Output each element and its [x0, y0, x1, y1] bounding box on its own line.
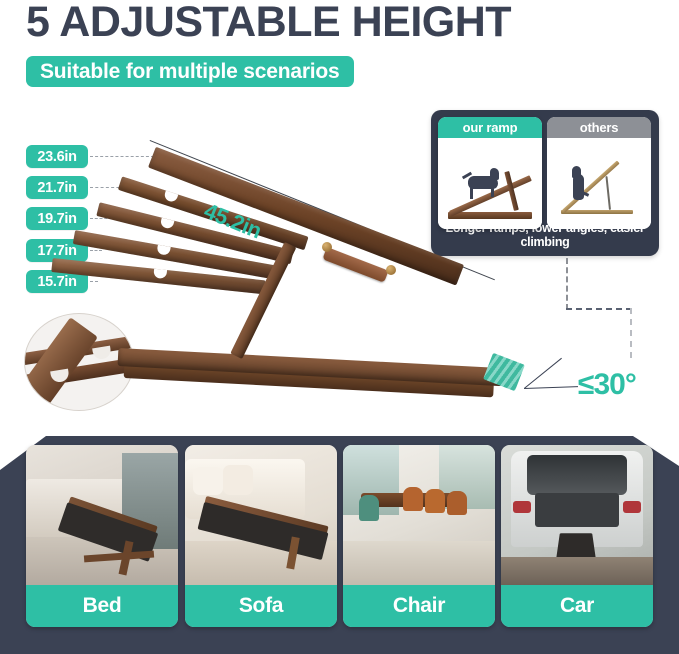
comparison-others: others	[547, 117, 651, 229]
connector-vertical-upper	[566, 258, 568, 310]
dog-silhouette-leg-front	[491, 187, 494, 197]
scene-card-car[interactable]: Car	[501, 445, 653, 627]
ramp-screw-upper	[322, 242, 332, 252]
comparison-card: our ramp others	[431, 110, 659, 256]
scene-card-chair[interactable]: Chair	[343, 445, 495, 627]
scene-label-car: Car	[501, 585, 653, 627]
angle-line-lower	[524, 386, 578, 389]
scene-photo-car	[501, 445, 653, 585]
scene-photo-sofa	[185, 445, 337, 585]
scene-card-sofa[interactable]: Sofa	[185, 445, 337, 627]
others-ramp-base	[561, 210, 633, 214]
angle-label: ≤30°	[578, 368, 636, 402]
comparison-our-ramp: our ramp	[438, 117, 542, 229]
subtitle-badge: Suitable for multiple scenarios	[26, 56, 354, 87]
comparison-our-ramp-header: our ramp	[438, 117, 542, 138]
others-ramp-strut	[605, 176, 611, 210]
infographic-stage: 5 ADJUSTABLE HEIGHT Suitable for multipl…	[0, 0, 679, 654]
ramp-screw-lower	[386, 265, 396, 275]
others-ramp-incline	[562, 160, 620, 212]
dog-silhouette-leg-rear	[470, 187, 473, 199]
subtitle-text: Suitable for multiple scenarios	[40, 60, 340, 84]
comparison-our-ramp-image	[438, 138, 542, 229]
comparison-others-header: others	[547, 117, 651, 138]
scene-card-bed[interactable]: Bed	[26, 445, 178, 627]
scene-label-bed: Bed	[26, 585, 178, 627]
scene-photo-bed	[26, 445, 178, 585]
comparison-others-image	[547, 138, 651, 229]
scene-label-sofa: Sofa	[185, 585, 337, 627]
scene-label-chair: Chair	[343, 585, 495, 627]
others-dog-silhouette-head	[572, 166, 581, 178]
page-title: 5 ADJUSTABLE HEIGHT	[26, 0, 646, 46]
scene-photo-chair	[343, 445, 495, 585]
angle-line-upper	[524, 358, 562, 389]
our-ramp-base	[448, 212, 532, 219]
dog-silhouette-head	[490, 168, 499, 180]
connector-horizontal	[566, 308, 632, 310]
connector-vertical-lower	[630, 308, 632, 358]
